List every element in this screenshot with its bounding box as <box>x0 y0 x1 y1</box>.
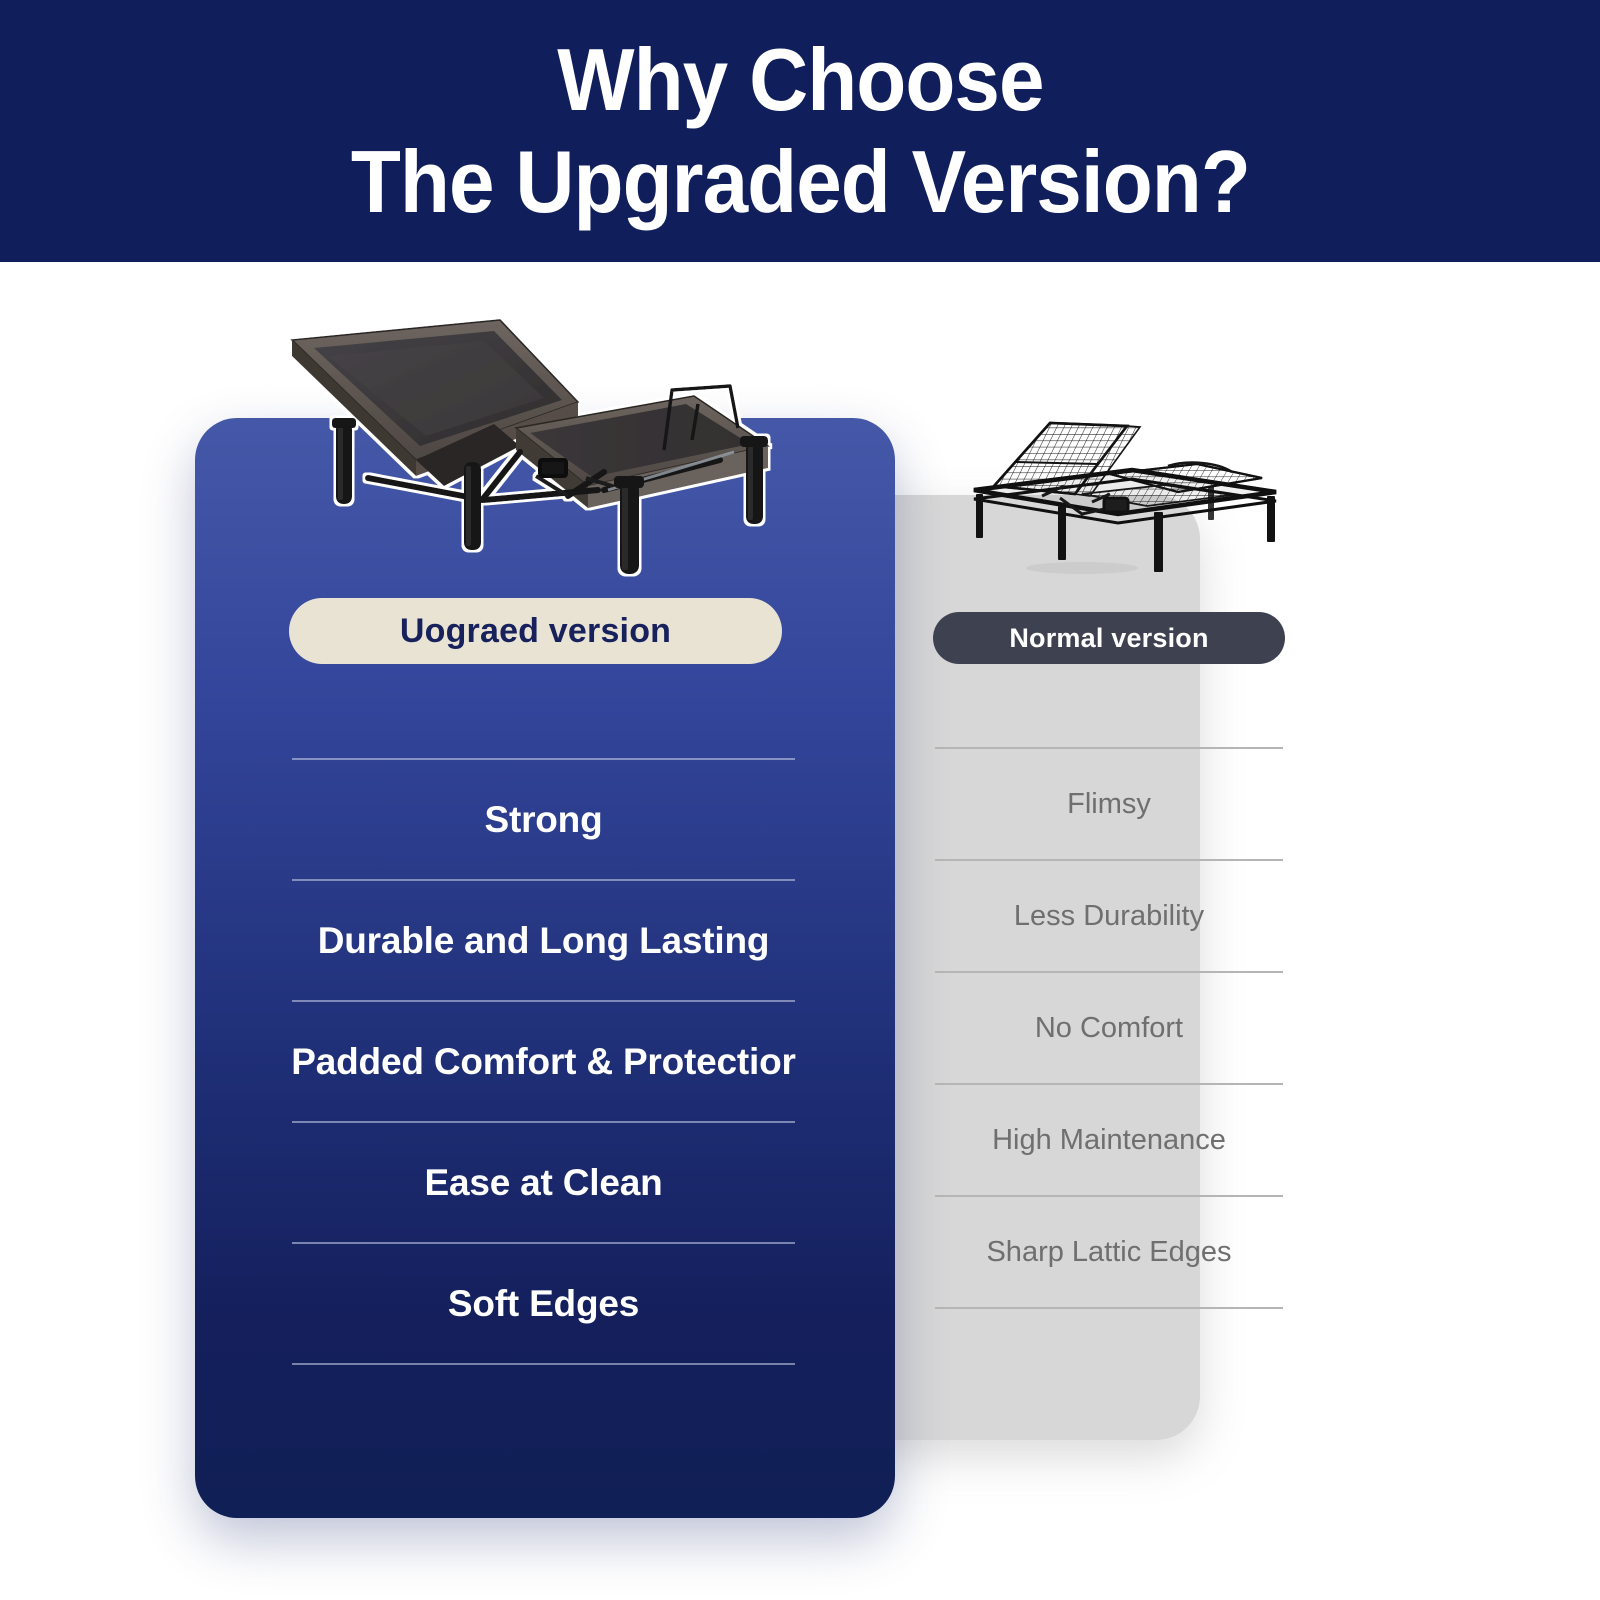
feature-row: Sharp Lattic Edges <box>935 1197 1283 1307</box>
normal-metal-bed-frame-image <box>932 402 1306 598</box>
page-title-line-2: The Upgraded Version? <box>350 138 1249 226</box>
upgraded-version-badge: Uograed version <box>289 598 782 664</box>
normal-version-badge-label: Normal version <box>1009 623 1208 654</box>
comparison-stage: Uograed version Normal version Strong Du… <box>0 262 1600 1600</box>
feature-label: Ease at Clean <box>424 1162 662 1204</box>
feature-row: Flimsy <box>935 749 1283 859</box>
feature-label: High Maintenance <box>992 1124 1226 1157</box>
feature-row: Less Durability <box>935 861 1283 971</box>
feature-label: Durable and Long Lasting <box>318 920 770 962</box>
feature-label: Less Durability <box>1014 900 1204 933</box>
feature-divider <box>935 1307 1283 1309</box>
upgraded-version-badge-label: Uograed version <box>400 612 671 651</box>
feature-label: Soft Edges <box>448 1283 639 1325</box>
upgraded-adjustable-bed-base-image <box>268 300 788 580</box>
feature-label: Strong <box>484 799 602 841</box>
feature-label: Flimsy <box>1067 788 1151 821</box>
feature-label: No Comfort <box>1035 1012 1183 1045</box>
feature-row: No Comfort <box>935 973 1283 1083</box>
feature-row: Durable and Long Lasting <box>292 881 795 1000</box>
feature-divider <box>292 1363 795 1365</box>
upgraded-feature-list: Strong Durable and Long Lasting Padded C… <box>292 758 795 1365</box>
feature-row: High Maintenance <box>935 1085 1283 1195</box>
feature-label: Padded Comfort & Protectior <box>291 1041 795 1083</box>
feature-row: Padded Comfort & Protectior <box>292 1002 795 1121</box>
normal-version-badge: Normal version <box>933 612 1285 664</box>
header-banner: Why Choose The Upgraded Version? <box>0 0 1600 262</box>
feature-label: Sharp Lattic Edges <box>986 1236 1231 1269</box>
feature-row: Ease at Clean <box>292 1123 795 1242</box>
feature-row: Strong <box>292 760 795 879</box>
page-title-line-1: Why Choose <box>557 36 1043 124</box>
normal-feature-list: Flimsy Less Durability No Comfort High M… <box>935 747 1283 1309</box>
feature-row: Soft Edges <box>292 1244 795 1363</box>
